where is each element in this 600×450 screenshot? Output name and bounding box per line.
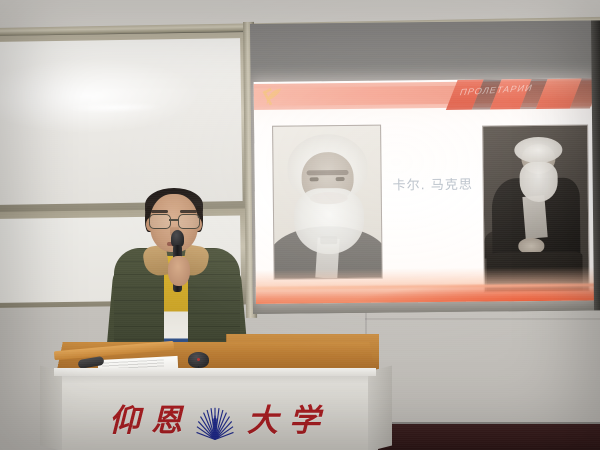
eyebrow-right	[180, 210, 197, 213]
portrait-eye	[310, 177, 319, 181]
portrait-brow	[307, 170, 349, 175]
lectern: 仰 恩	[40, 340, 390, 450]
whiteboard-surface	[0, 38, 243, 205]
presentation-slide: ПРОЛЕТАРИИ	[254, 78, 596, 304]
marx-bust-portrait	[272, 125, 383, 280]
lectern-char-2: 恩	[151, 406, 183, 437]
lectern-char-3: 大	[247, 406, 279, 437]
lectern-char-1: 仰	[109, 406, 141, 437]
glasses-bridge	[169, 219, 178, 221]
lectern-body: 仰 恩	[40, 364, 392, 450]
portrait-beard	[519, 162, 557, 202]
classroom-photo-scene: ПРОЛЕТАРИИ	[0, 0, 600, 450]
hand-holding-microphone	[168, 256, 190, 286]
lectern-university-name: 仰 恩	[62, 398, 368, 444]
portrait-eye	[336, 177, 345, 181]
glasses-lens-left	[149, 214, 171, 229]
glasses-icon	[148, 214, 200, 228]
lectern-top-lip	[54, 368, 376, 376]
baseboard	[378, 424, 600, 450]
glasses-lens-right	[178, 214, 200, 229]
mouse-indicator-light	[197, 358, 200, 361]
projection-screen: ПРОЛЕТАРИИ	[250, 20, 600, 314]
hammer-and-sickle-icon	[262, 84, 288, 110]
eyebrow-left	[151, 210, 168, 213]
presenter	[112, 186, 242, 356]
whiteboard-glare	[65, 102, 163, 113]
university-sunburst-icon	[193, 399, 237, 443]
lectern-char-4: 学	[289, 406, 321, 437]
slide-bottom-wave	[256, 266, 596, 304]
wall-trim-line	[365, 318, 600, 320]
slide-title: 卡尔. 马克思	[383, 174, 483, 194]
